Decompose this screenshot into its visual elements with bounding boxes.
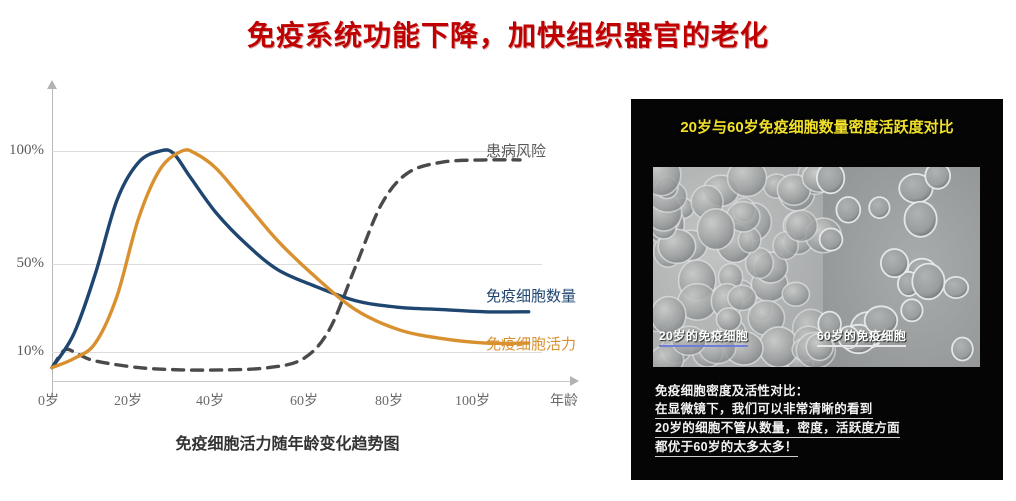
series-paths [52, 150, 529, 370]
cell [728, 285, 756, 310]
cell [785, 210, 817, 241]
cell [944, 277, 968, 298]
cell [820, 228, 843, 250]
video-panel: 20岁与60岁免疫细胞数量密度活跃度对比 [631, 99, 1003, 480]
immune-trend-chart: 100% 50% 10% 0岁 20岁 40岁 60岁 80岁 100岁 年龄 … [0, 78, 620, 478]
cell [925, 167, 950, 189]
video-caption-line-3: 都优于60岁的太多太多！ [655, 438, 798, 457]
video-caption-line-1: 在显微镜下，我们可以非常清晰的看到 [655, 400, 873, 419]
cell [912, 264, 944, 300]
series-0 [52, 150, 529, 368]
label-20yo-cells: 20岁的免疫细胞 [659, 327, 748, 347]
cell [952, 338, 973, 361]
page-title: 免疫系统功能下降，加快组织器官的老化 [0, 14, 1016, 54]
cell [905, 202, 937, 237]
video-caption-line-0: 免疫细胞密度及活性对比： [655, 382, 809, 400]
cell [901, 299, 922, 321]
legend-disease-risk: 患病风险 [486, 140, 546, 161]
video-caption-line-2: 20岁的细胞不管从数量，密度，活跃度方面 [655, 419, 900, 438]
cell [869, 197, 889, 218]
video-title: 20岁与60岁免疫细胞数量密度活跃度对比 [631, 116, 1003, 137]
cell [817, 167, 844, 193]
chart-curves [0, 78, 620, 418]
cell [782, 282, 809, 306]
label-60yo-cells: 60岁的免疫细胞 [817, 327, 906, 347]
legend-immune-count: 免疫细胞数量 [486, 285, 576, 306]
video-caption: 免疫细胞密度及活性对比： 在显微镜下，我们可以非常清晰的看到 20岁的细胞不管从… [655, 382, 995, 457]
slide-root: 免疫系统功能下降，加快组织器官的老化 100% 50% 10% 0岁 20岁 4… [0, 0, 1016, 501]
cell [728, 167, 767, 196]
chart-caption: 免疫细胞活力随年龄变化趋势图 [0, 430, 575, 454]
cell [836, 197, 860, 223]
legend-immune-vitality: 免疫细胞活力 [486, 333, 576, 354]
cell [697, 209, 734, 250]
cell [881, 249, 908, 277]
